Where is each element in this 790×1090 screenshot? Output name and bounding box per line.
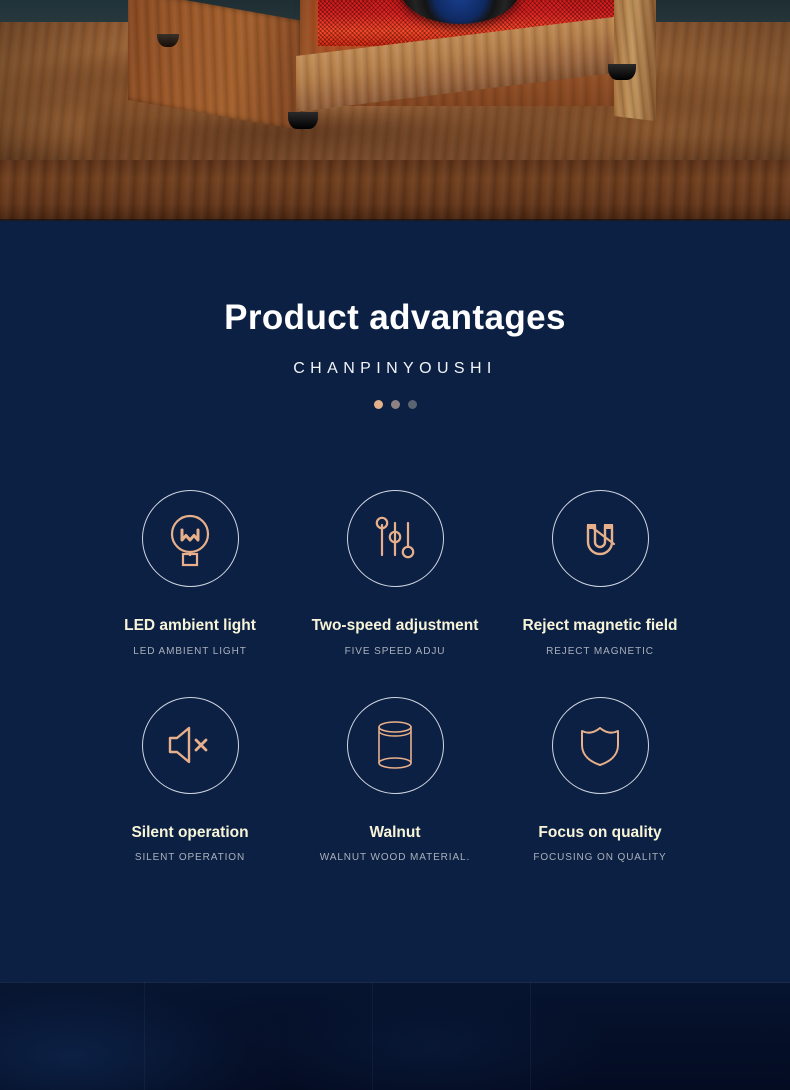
photo-ambient-glow — [260, 988, 600, 1090]
feature-subtitle: WALNUT WOOD MATERIAL. — [320, 853, 470, 863]
feature-icon-circle — [142, 697, 239, 794]
wood-cylinder-icon — [369, 716, 421, 774]
lightbulb-icon — [162, 509, 218, 569]
section-header: Product advantages CHANPINYOUSHI — [0, 222, 790, 409]
feature-item-walnut: Walnut WALNUT WOOD MATERIAL. — [293, 697, 498, 864]
feature-title: Reject magnetic field — [522, 618, 677, 634]
feature-title: Two-speed adjustment — [312, 618, 479, 634]
feature-item-two-speed-adjustment: Two-speed adjustment FIVE SPEED ADJU — [293, 490, 498, 657]
dot-active — [374, 400, 383, 409]
feature-item-led-ambient-light: LED ambient light LED AMBIENT LIGHT — [88, 490, 293, 657]
magnet-rejected-icon — [573, 512, 627, 566]
photo-vertical-edge — [530, 982, 531, 1090]
equalizer-sliders-icon — [367, 511, 423, 567]
dot-2 — [391, 400, 400, 409]
decorative-dots — [0, 400, 790, 409]
feature-icon-circle — [552, 697, 649, 794]
section-subtitle: CHANPINYOUSHI — [0, 360, 790, 378]
feature-icon-circle — [552, 490, 649, 587]
feature-subtitle: REJECT MAGNETIC — [546, 647, 654, 657]
feature-title: Walnut — [369, 825, 420, 841]
product-advantages-section: Product advantages CHANPINYOUSHI — [0, 222, 790, 982]
feature-item-reject-magnetic-field: Reject magnetic field REJECT MAGNETIC — [498, 490, 703, 657]
feature-item-silent-operation: Silent operation SILENT OPERATION — [88, 697, 293, 864]
photo-ambient-glow — [0, 982, 280, 1090]
feature-title: Silent operation — [131, 825, 248, 841]
speaker-foot — [288, 112, 318, 129]
product-detail-page: Product advantages CHANPINYOUSHI — [0, 0, 790, 1090]
photo-vertical-edge — [144, 982, 145, 1090]
feature-title: Focus on quality — [538, 825, 661, 841]
speaker-muted-icon — [162, 719, 218, 771]
hero-product-photo — [0, 0, 790, 222]
feature-icon-circle — [347, 490, 444, 587]
shield-icon — [574, 718, 626, 772]
dot-3 — [408, 400, 417, 409]
feature-item-focus-on-quality: Focus on quality FOCUSING ON QUALITY — [498, 697, 703, 864]
feature-subtitle: SILENT OPERATION — [135, 853, 245, 863]
speaker-corner-post — [614, 0, 656, 121]
feature-icon-circle — [347, 697, 444, 794]
feature-subtitle: FOCUSING ON QUALITY — [533, 853, 666, 863]
page-title: Product advantages — [0, 300, 790, 335]
feature-title: LED ambient light — [124, 618, 256, 634]
next-section-photo — [0, 982, 790, 1090]
feature-subtitle: LED AMBIENT LIGHT — [133, 647, 246, 657]
feature-icon-circle — [142, 490, 239, 587]
speaker-foot — [608, 64, 636, 80]
photo-vertical-edge — [372, 982, 373, 1090]
table-front-edge — [0, 160, 790, 222]
feature-grid: LED ambient light LED AMBIENT LIGHT Two-… — [0, 490, 790, 863]
feature-subtitle: FIVE SPEED ADJU — [345, 647, 446, 657]
